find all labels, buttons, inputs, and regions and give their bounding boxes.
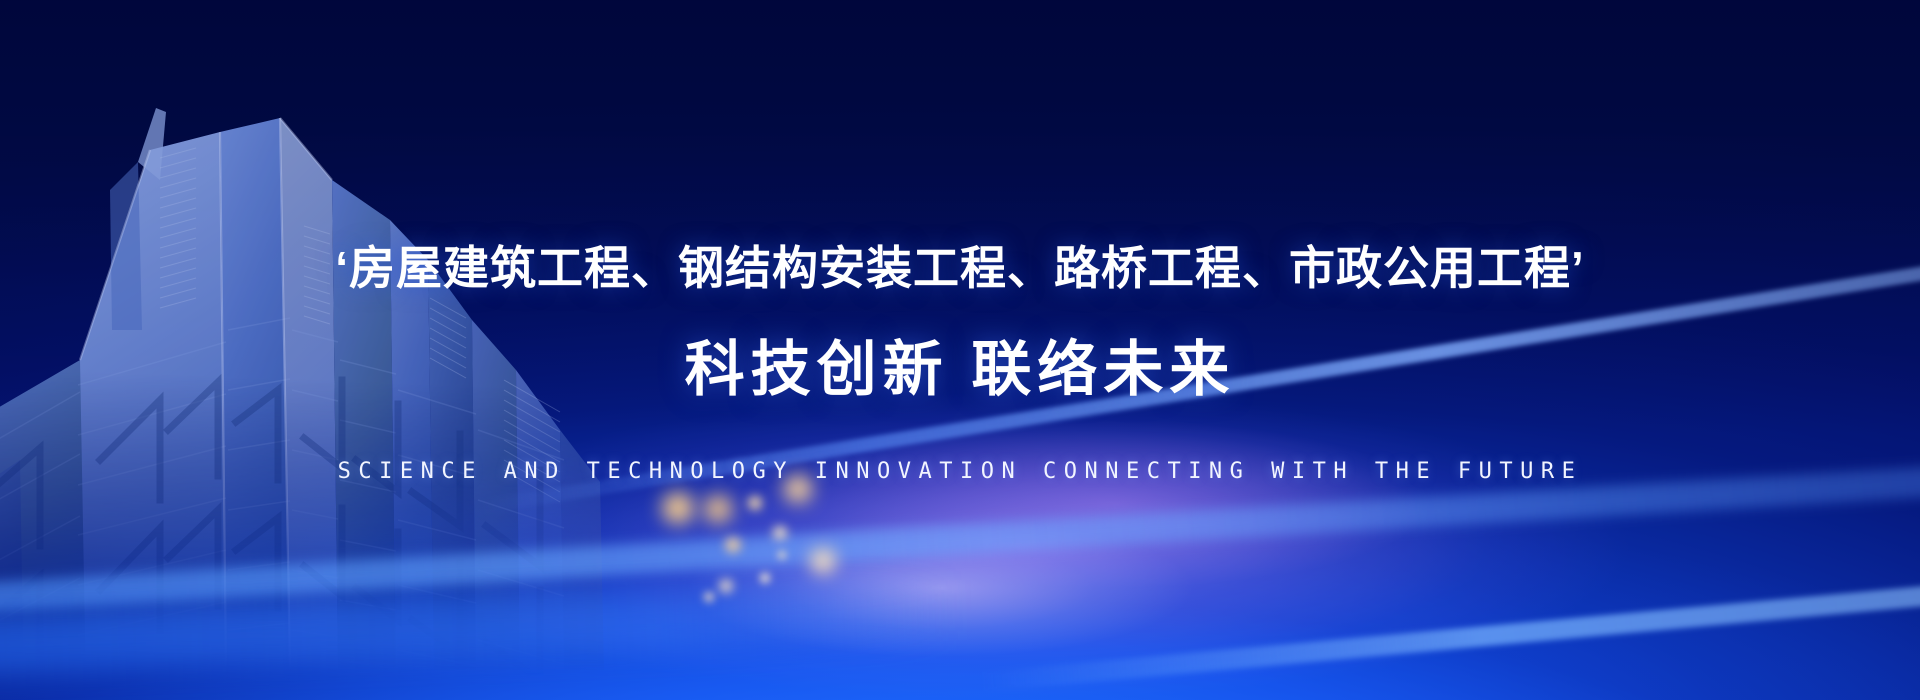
hero-banner: ‘房屋建筑工程、钢结构安装工程、路桥工程、市政公用工程’ 科技创新 联络未来 S… xyxy=(0,0,1920,700)
banner-english-tagline: SCIENCE AND TECHNOLOGY INNOVATION CONNEC… xyxy=(0,461,1920,483)
bokeh-dot xyxy=(702,493,734,525)
bokeh-dot xyxy=(759,572,771,584)
banner-subheadline: 科技创新 联络未来 xyxy=(0,340,1920,400)
light-streak-lower xyxy=(980,570,1920,691)
bokeh-dot xyxy=(660,490,696,526)
banner-headline: ‘房屋建筑工程、钢结构安装工程、路桥工程、市政公用工程’ xyxy=(0,245,1920,291)
bokeh-dot xyxy=(747,495,763,511)
